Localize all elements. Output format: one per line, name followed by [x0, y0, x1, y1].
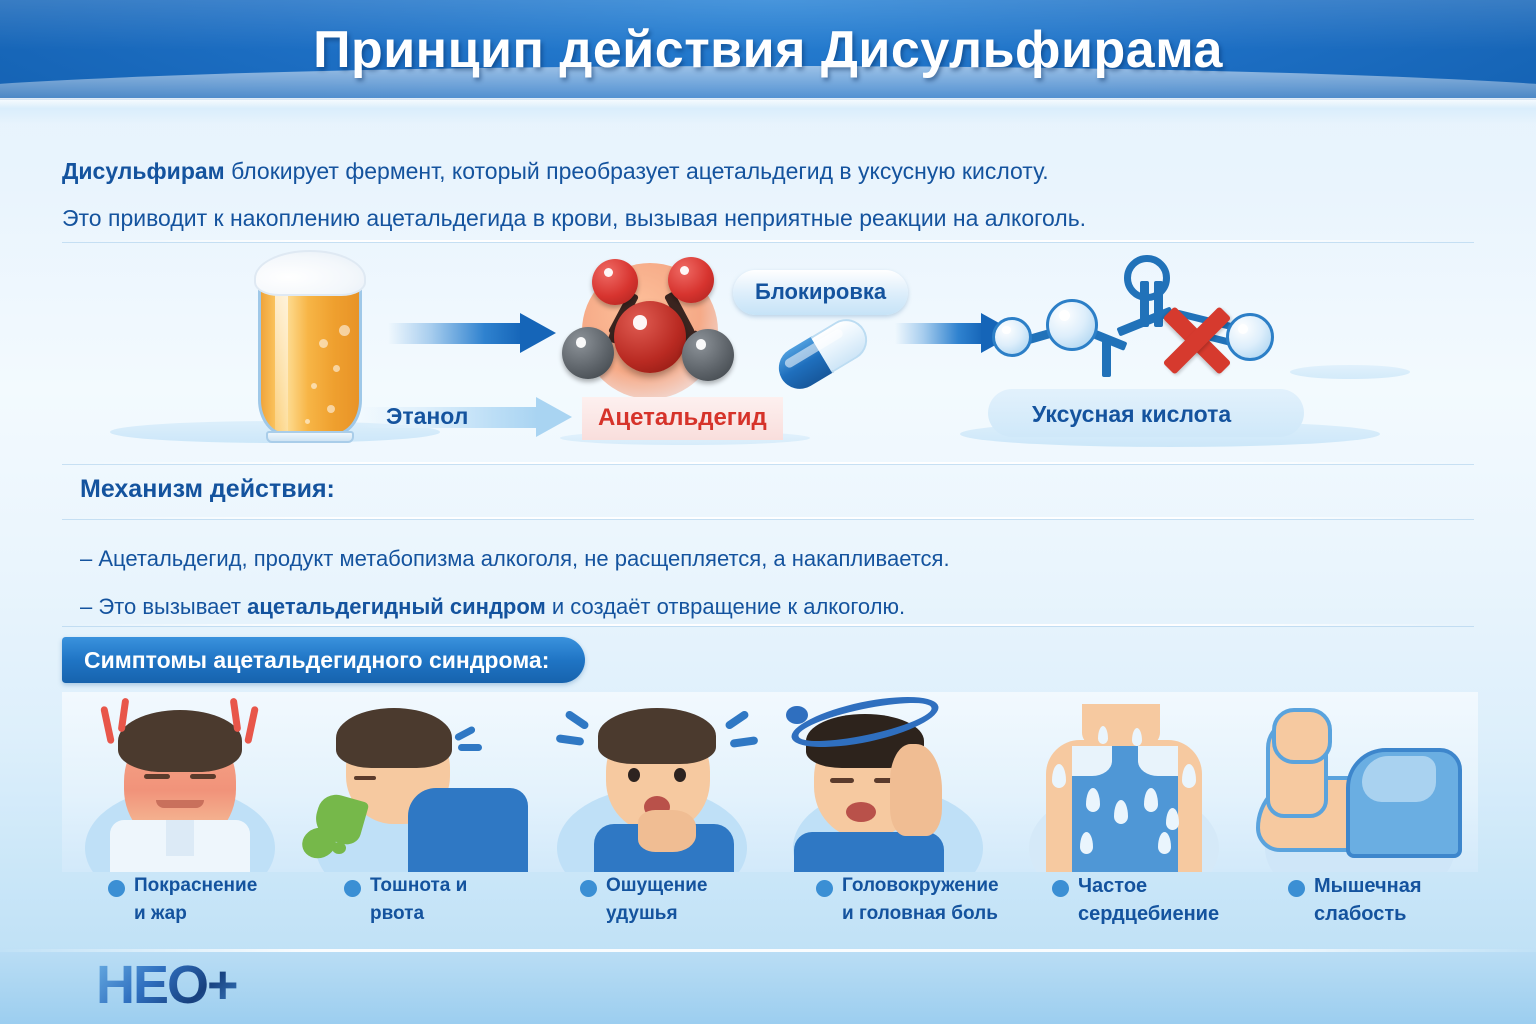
red-x-icon: [1160, 303, 1234, 377]
symptom-card-flushed[interactable]: [62, 692, 298, 872]
mechanism-item-2-head: – Это вызывает: [80, 594, 247, 619]
beer-glass-icon: [250, 248, 370, 443]
beer-glass-base: [266, 431, 354, 443]
intro-text-block: Дисульфирам блокирует фермент, который п…: [62, 148, 1472, 242]
brand-logo: НЕО+: [96, 952, 237, 1018]
symptom-label-flushed: Покраснение и жар: [62, 872, 298, 952]
oxygen-atom-left: [592, 259, 638, 305]
bullet-dot-icon: [1288, 880, 1305, 897]
symptom-card-dizziness[interactable]: [770, 692, 1006, 872]
acid-node-methyl: [1046, 299, 1098, 351]
symptom-label-choking: Ошущение удушья: [534, 872, 770, 952]
symptom-label-line2: слабость: [1314, 900, 1470, 928]
bullet-dot-icon: [108, 880, 125, 897]
intro-line-1-rest: блокирует фермент, который преобразует а…: [225, 158, 1049, 184]
puddle-right-2: [1290, 365, 1410, 379]
symptoms-banner: Симптомы ацетальдегидного синдрома:: [62, 637, 585, 683]
beer-liquid: [258, 276, 362, 436]
hydrogen-atom-right: [682, 329, 734, 381]
acetaldehyde-molecule-icon: [556, 245, 756, 405]
bullet-dot-icon: [1052, 880, 1069, 897]
bullet-dot-icon: [580, 880, 597, 897]
divider-symptoms: [62, 624, 1474, 626]
header-wave-divider: [0, 98, 1536, 124]
mechanism-item-2-tail: и создаёт отвращение к алкоголю.: [546, 594, 905, 619]
symptom-label-line1: Мышечная: [1314, 872, 1470, 900]
blocking-badge: Блокировка: [733, 270, 908, 315]
acetaldehyde-label: Ацетальдегид: [582, 397, 783, 440]
oxygen-atom-right: [668, 257, 714, 303]
symptom-label-line1: Частое: [1078, 872, 1234, 900]
acetic-acid-molecule-icon: [990, 255, 1280, 405]
symptom-card-sweating[interactable]: [1006, 692, 1242, 872]
pill-capsule-icon: [771, 311, 875, 396]
bullet-dot-icon: [816, 880, 833, 897]
hydrogen-atom-left: [562, 327, 614, 379]
symptom-label-weakness: Мышечная слабость: [1242, 872, 1478, 952]
divider-mechanism: [62, 462, 1474, 464]
page-title: Принцип действия Дисульфирама: [0, 0, 1536, 100]
mechanism-list: – Ацетальдегид, продукт метабопизма алко…: [80, 535, 1380, 631]
mechanism-item-2-bold: ацетальдегидный синдром: [247, 594, 546, 619]
symptom-card-weakness[interactable]: [1242, 692, 1478, 872]
divider-under-mechanism-title: [62, 517, 1474, 519]
acid-oxygen-ring: [1124, 255, 1170, 301]
beer-foam: [254, 250, 366, 296]
symptom-label-vomiting: Тошнота и рвота: [298, 872, 534, 952]
symptom-label-dizziness: Головокружение и головная боль: [770, 872, 1006, 952]
mechanism-title: Механизм действия:: [80, 475, 335, 504]
acid-node-terminal: [992, 317, 1032, 357]
reaction-diagram: Блокировка: [0, 245, 1536, 460]
symptom-illustration-row: [62, 692, 1482, 872]
bullet-dot-icon: [344, 880, 361, 897]
symptom-label-line2: и головная боль: [842, 900, 998, 928]
infographic-page: Принцип действия Дисульфирама Дисульфира…: [0, 0, 1536, 1024]
arrow-ethanol-to-acetaldehyde: [388, 313, 556, 353]
page-header: Принцип действия Дисульфирама: [0, 0, 1536, 100]
symptom-label-line1: Тошнота и рвота: [370, 872, 526, 928]
intro-line-1: Дисульфирам блокирует фермент, который п…: [62, 148, 1472, 195]
symptom-label-line1: Ошущение удушья: [606, 872, 762, 928]
symptom-label-line2: и жар: [134, 900, 290, 928]
symptom-label-palpitations: Частое сердцебиение: [1006, 872, 1242, 952]
mechanism-item-1: – Ацетальдегид, продукт метабопизма алко…: [80, 535, 1380, 583]
carbon-atom-center: [614, 301, 686, 373]
acetic-acid-label: Уксусная кислота: [1032, 401, 1231, 428]
divider-top: [62, 240, 1474, 242]
symptom-label-line1: Головокружение: [842, 872, 998, 900]
symptom-labels-row: Покраснение и жар Тошнота и рвота Ошущен…: [62, 872, 1482, 952]
ethanol-label: Этанол: [386, 403, 468, 430]
symptom-card-choking[interactable]: [534, 692, 770, 872]
intro-line-2: Это приводит к накоплению ацетальдегида …: [62, 195, 1472, 242]
symptom-label-line2: сердцебиение: [1078, 900, 1234, 928]
intro-drug-name: Дисульфирам: [62, 158, 225, 184]
symptom-card-vomiting[interactable]: [298, 692, 534, 872]
symptom-label-line1: Покраснение: [134, 872, 290, 900]
